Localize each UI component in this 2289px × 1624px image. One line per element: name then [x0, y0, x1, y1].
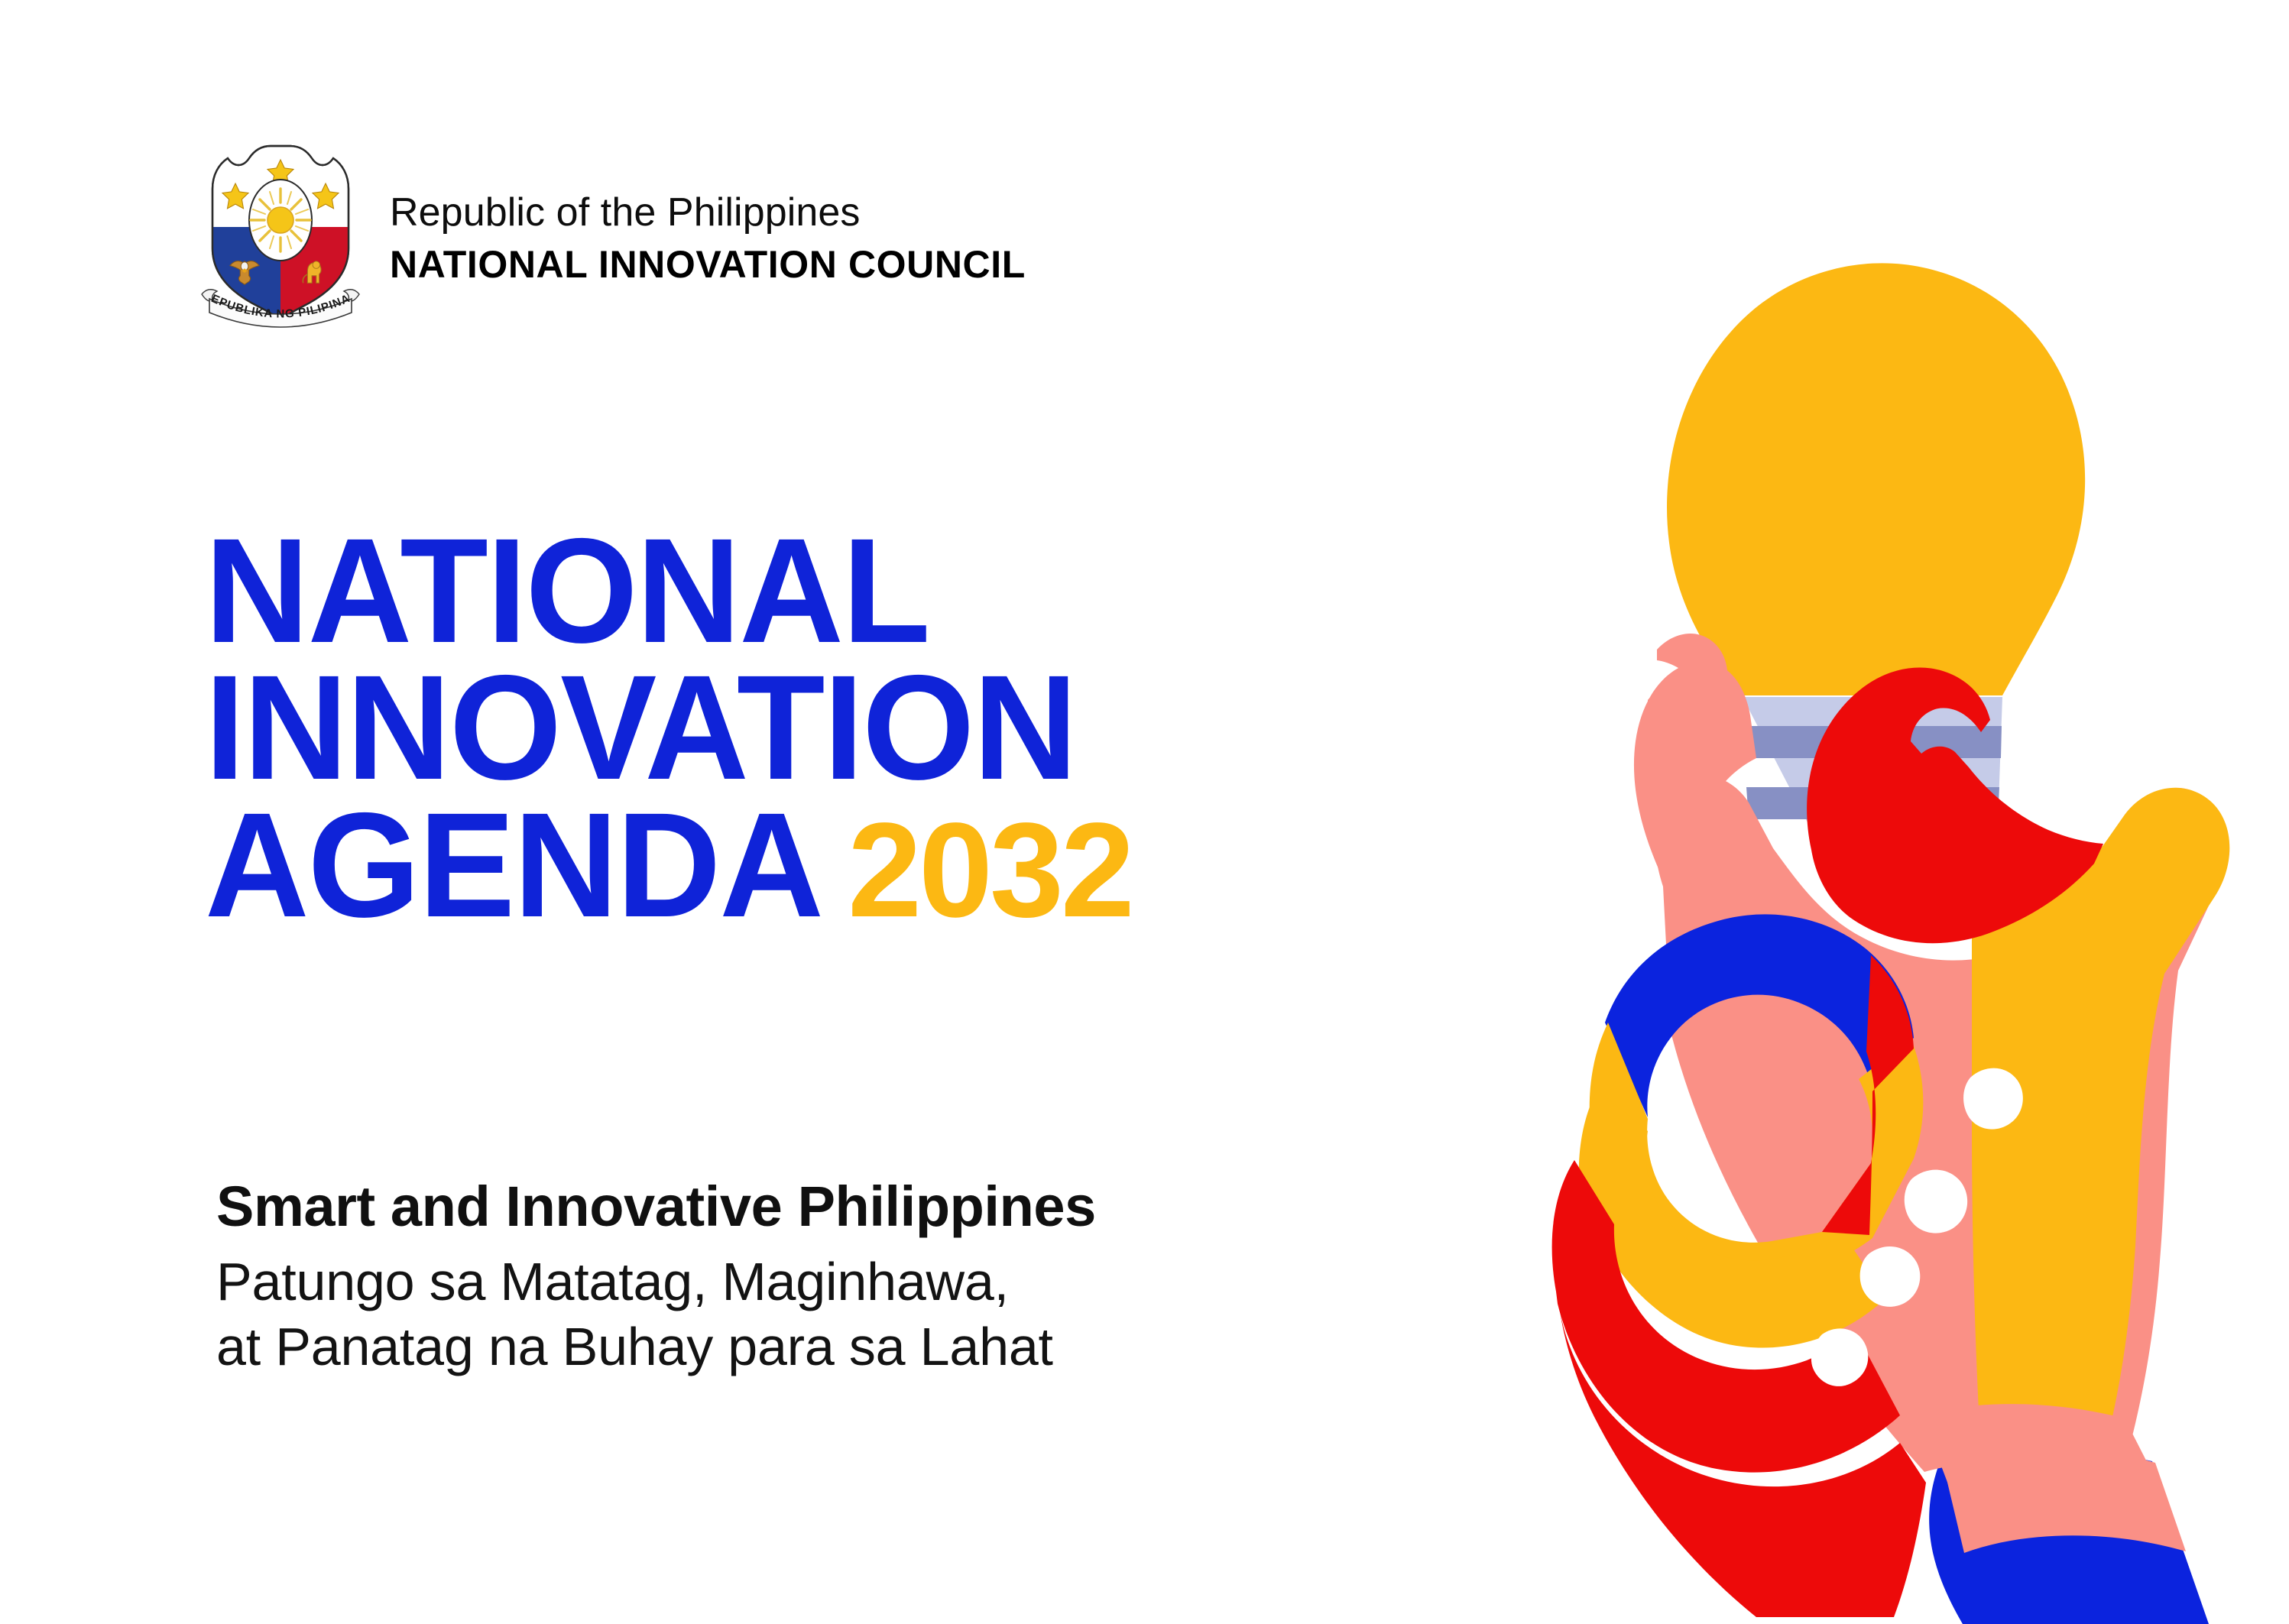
title-line-3: AGENDA: [205, 797, 822, 934]
republic-line: Republic of the Philippines: [390, 190, 1026, 236]
tagline-sub-line-2: at Panatag na Buhay para sa Lahat: [216, 1314, 1378, 1379]
fingernail-3: [1860, 1246, 1921, 1307]
title-line-3-group: AGENDA 2032: [205, 797, 1509, 934]
page-title: NATIONAL INNOVATION AGENDA 2032: [205, 523, 1550, 934]
title-line-1: NATIONAL: [205, 523, 1509, 660]
tagline-sub-line-1: Patungo sa Matatag, Maginhawa,: [216, 1250, 1378, 1314]
tagline: Smart and Innovative Philippines Patungo…: [216, 1175, 1378, 1380]
cover-page: REPUBLIKA NG PILIPINAS Republic of the P…: [0, 0, 2289, 1624]
title-year: 2032: [848, 809, 1132, 933]
fingernail-2: [1905, 1170, 1967, 1233]
tagline-subtext: Patungo sa Matatag, Maginhawa, at Panata…: [216, 1250, 1378, 1380]
title-line-2: INNOVATION: [205, 660, 1509, 796]
tagline-headline: Smart and Innovative Philippines: [216, 1175, 1378, 1239]
hand-holding-lightbulb-illustration: [1513, 115, 2289, 1624]
agency-header-lockup: REPUBLIKA NG PILIPINAS Republic of the P…: [197, 141, 1026, 329]
agency-name: NATIONAL INNOVATION COUNCIL: [390, 241, 1026, 288]
philippine-coat-of-arms-seal: REPUBLIKA NG PILIPINAS: [197, 141, 364, 329]
lightbulb-glass: [1667, 263, 2085, 695]
fingernail-1: [1963, 1068, 2023, 1130]
agency-text-group: Republic of the Philippines NATIONAL INN…: [390, 182, 1026, 287]
